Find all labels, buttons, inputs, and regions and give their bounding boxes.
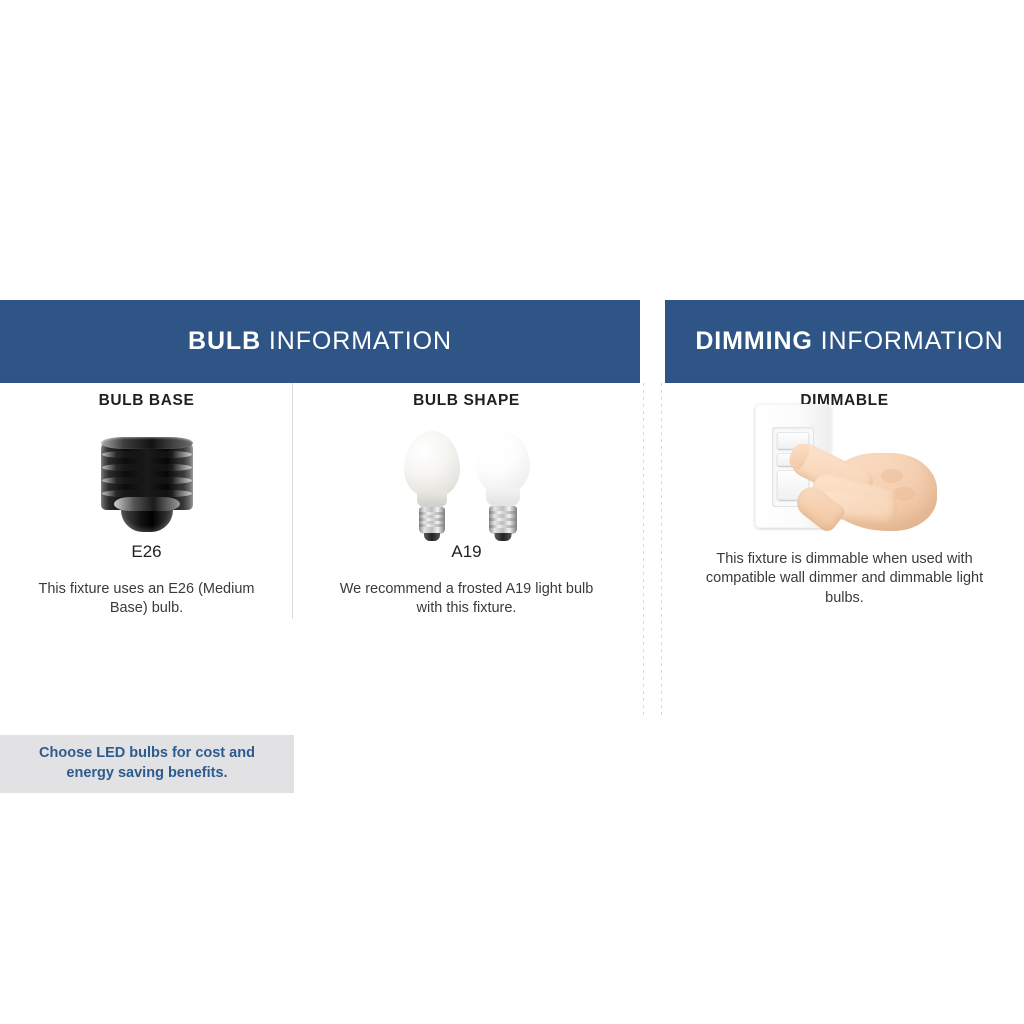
bulb-information-title-strong: BULB (188, 327, 261, 355)
dimmable-description: This fixture is dimmable when used with … (699, 550, 991, 608)
wall-dimmer-hand-icon (745, 404, 945, 534)
bulb-shape-code: A19 (293, 542, 640, 562)
bulb-screw-base (489, 506, 517, 534)
led-tip-band: Choose LED bulbs for cost and energy sav… (0, 735, 294, 793)
bulb-shape-title: BULB SHAPE (293, 392, 640, 410)
bulb-shape-artwork (293, 416, 640, 534)
bulb-information-header: BULB INFORMATION (0, 300, 640, 383)
bulb-information-title-light: INFORMATION (269, 327, 452, 355)
bulb-neck (417, 491, 447, 507)
base-tip (494, 533, 511, 541)
bulb-screw-base (419, 507, 445, 534)
base-ring (419, 512, 445, 515)
screw-base-thread (102, 477, 192, 484)
panel-divider-dashed-right (661, 383, 662, 718)
dimming-information-header: DIMMING INFORMATION (665, 300, 1024, 383)
screw-base-thread (102, 464, 192, 471)
dimmable-artwork (665, 416, 1024, 534)
screw-base-thread (102, 490, 192, 497)
screw-base-tip (121, 502, 173, 532)
bulb-glass (476, 432, 530, 494)
bulb-base-description: This fixture uses an E26 (Medium Base) b… (29, 580, 264, 619)
base-tip (424, 533, 440, 541)
bulb-screw-base-icon (95, 438, 199, 534)
dimming-information-title-strong: DIMMING (695, 327, 812, 355)
bulb-base-column: BULB BASE E26 This fixture uses an E26 (… (0, 383, 293, 619)
bulb-base-title: BULB BASE (0, 392, 293, 410)
dimming-information-title-light: INFORMATION (821, 327, 1004, 355)
bulb-glass (404, 431, 460, 497)
incandescent-a19-bulb-icon (404, 431, 460, 534)
dimmable-column: DIMMABLE (665, 383, 1024, 608)
bulb-information-body: BULB BASE E26 This fixture uses an E26 (… (0, 383, 640, 619)
bulb-base-code: E26 (0, 542, 293, 562)
a19-bulbs-icon (404, 431, 530, 534)
bulb-shape-column: BULB SHAPE (293, 383, 640, 619)
base-ring (489, 511, 517, 514)
bulb-neck (486, 488, 520, 506)
screw-base-thread (102, 451, 192, 458)
base-ring (419, 524, 445, 527)
led-a19-bulb-icon (476, 432, 530, 534)
bulb-shape-description: We recommend a frosted A19 light bulb wi… (331, 580, 603, 619)
base-ring (489, 525, 517, 528)
bulb-information-panel: BULB INFORMATION BULB BASE E26 This fixt… (0, 300, 640, 619)
dimming-information-panel: DIMMING INFORMATION DIMMABLE (665, 300, 1024, 608)
dimming-information-title: DIMMING INFORMATION (695, 327, 1003, 356)
bulb-base-artwork (0, 416, 293, 534)
hand-knuckle (881, 469, 903, 483)
bulb-information-title: BULB INFORMATION (188, 327, 452, 356)
dimming-information-body: DIMMABLE (665, 383, 1024, 608)
hand-pressing-icon (789, 431, 939, 534)
base-ring (489, 518, 517, 521)
base-ring (419, 518, 445, 521)
screw-base-collar (101, 437, 193, 449)
panel-divider-dashed-left (643, 383, 644, 718)
led-tip-text: Choose LED bulbs for cost and energy sav… (22, 744, 272, 783)
